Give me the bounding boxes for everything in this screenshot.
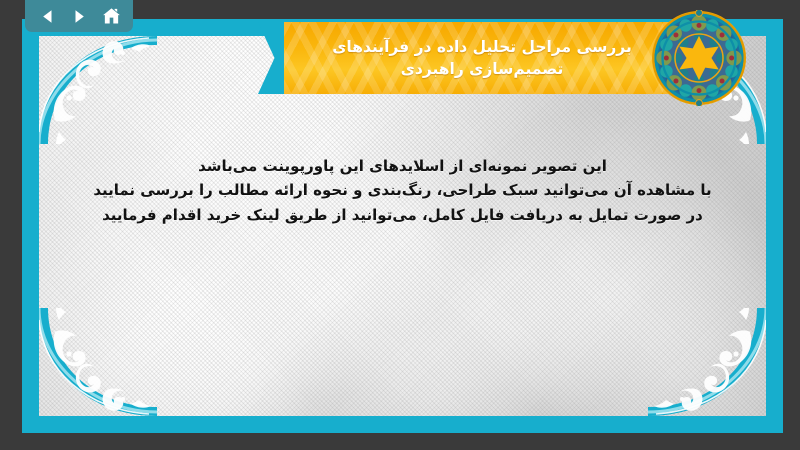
- body-line-3: در صورت تمایل به دریافت فایل کامل، می‌تو…: [79, 203, 726, 227]
- corner-ornament-bottom-left: [39, 308, 157, 416]
- home-icon[interactable]: [100, 5, 122, 27]
- navigation-bar: [25, 0, 133, 32]
- back-icon[interactable]: [36, 5, 58, 27]
- title-banner: بررسی مراحل تحلیل داده در فرآیندهای تصمی…: [258, 22, 728, 94]
- forward-icon[interactable]: [68, 5, 90, 27]
- corner-ornament-bottom-right: [648, 308, 766, 416]
- corner-ornament-top-left: [39, 36, 157, 144]
- body-line-2: با مشاهده آن می‌توانید سبک طراحی، رنگ‌بن…: [79, 178, 726, 202]
- body-line-1: این تصویر نمونه‌ای از اسلایدهای این پاور…: [79, 154, 726, 178]
- slide-body-text: این تصویر نمونه‌ای از اسلایدهای این پاور…: [79, 154, 726, 227]
- title-line-1: بررسی مراحل تحلیل داده در فرآیندهای: [332, 36, 632, 58]
- title-line-2: تصمیم‌سازی راهبردی: [401, 58, 564, 80]
- slide-viewer: این تصویر نمونه‌ای از اسلایدهای این پاور…: [0, 0, 800, 450]
- persian-medallion-ornament: [651, 10, 747, 106]
